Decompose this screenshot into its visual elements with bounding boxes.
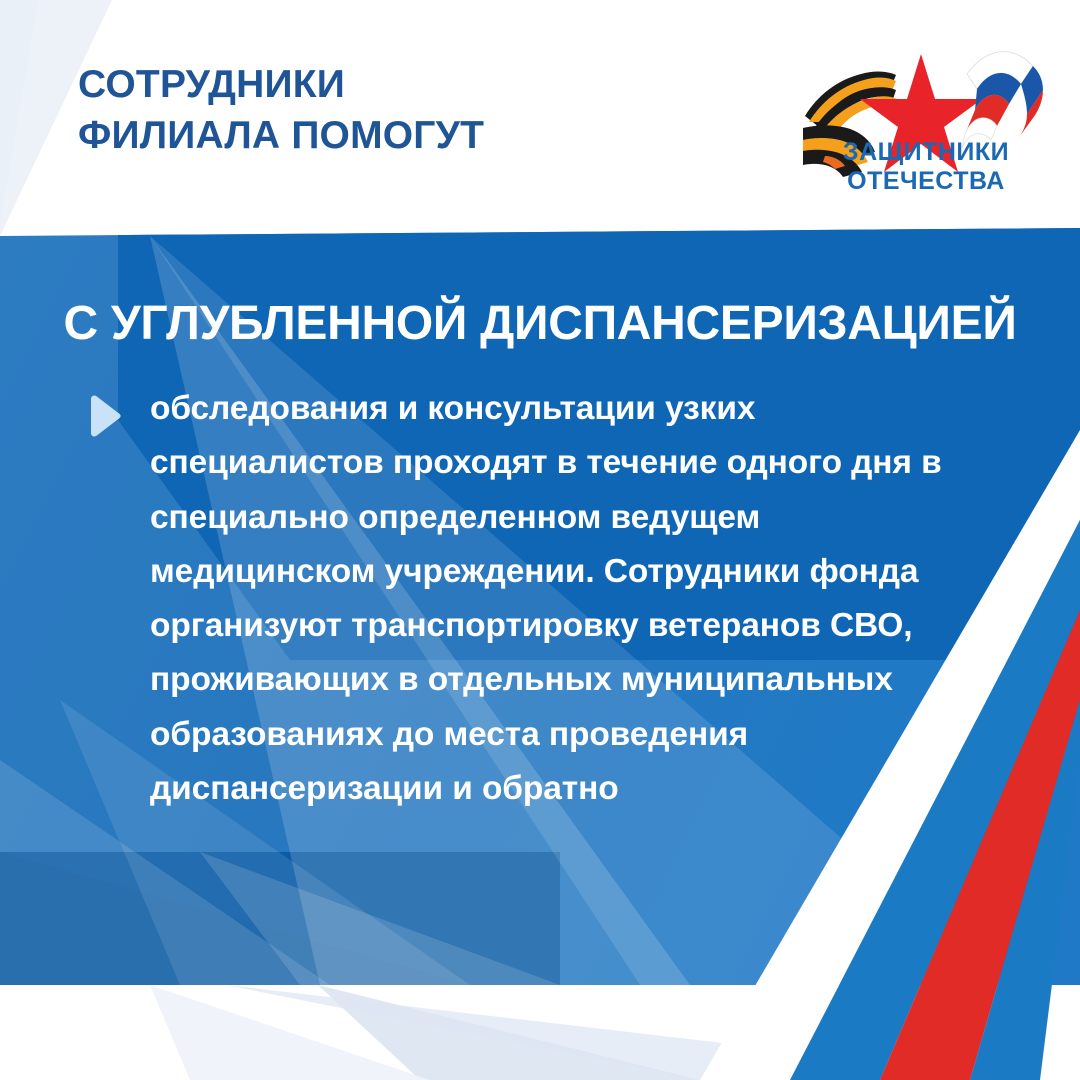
poster-canvas: СОТРУДНИКИ ФИЛИАЛА ПОМОГУТ [0,0,1080,1080]
body-row: обследования и консультации узких специа… [0,382,1080,816]
zashchitniki-otechestva-logo: ЗАЩИТНИКИ ОТЕЧЕСТВА [795,44,1057,199]
section-heading: С УГЛУБЛЕННОЙ ДИСПАНСЕРИЗАЦИЕЙ [0,296,1080,351]
play-triangle-icon [82,394,126,438]
logo-text-line-1: ЗАЩИТНИКИ [843,138,1009,166]
page-title-line-1: СОТРУДНИКИ [78,60,484,111]
logo-text-line-2: ОТЕЧЕСТВА [847,167,1005,195]
main-content: С УГЛУБЛЕННОЙ ДИСПАНСЕРИЗАЦИЕЙ обследова… [0,232,1080,985]
page-title: СОТРУДНИКИ ФИЛИАЛА ПОМОГУТ [78,60,484,161]
page-title-line-2: ФИЛИАЛА ПОМОГУТ [78,111,484,162]
body-text: обследования и консультации узких специа… [150,382,950,816]
header: СОТРУДНИКИ ФИЛИАЛА ПОМОГУТ [0,0,1080,232]
